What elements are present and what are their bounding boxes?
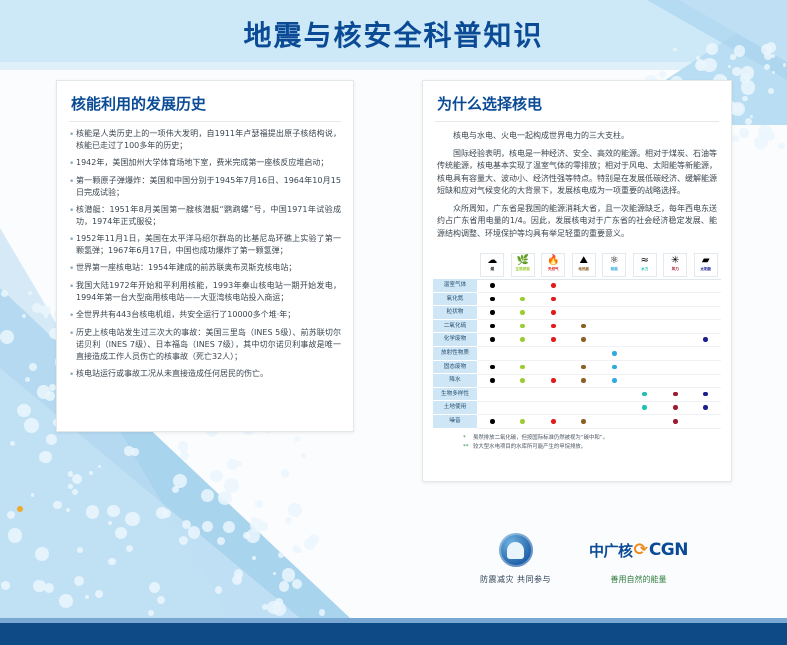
decorative-dot (202, 521, 213, 532)
matrix-impact-dot (551, 297, 556, 302)
decorative-dot (124, 446, 134, 456)
bullet-dot-icon: • (69, 233, 76, 257)
matrix-cell (599, 374, 630, 388)
matrix-column-label: 核能 (611, 267, 618, 271)
matrix-column-label: 水力 (641, 267, 648, 271)
decorative-dot (72, 474, 82, 484)
decorative-dot (702, 58, 716, 72)
decorative-dot (98, 465, 101, 468)
hydro-icon: ≈水力 (633, 253, 657, 277)
matrix-impact-dot (490, 365, 495, 370)
decorative-dot (7, 511, 15, 519)
decorative-dot (319, 609, 326, 616)
matrix-column-label: 生物质能 (516, 267, 530, 271)
matrix-cell (599, 360, 630, 374)
decorative-dot (252, 556, 256, 560)
decorative-dot (149, 582, 160, 593)
decorative-dot (288, 503, 302, 517)
bullet-dot-icon: • (69, 309, 76, 322)
decorative-dot (732, 135, 739, 142)
matrix-impact-dot (703, 337, 708, 342)
decorative-dot (279, 581, 290, 592)
matrix-impact-dot (520, 324, 525, 329)
geothermal-icon: ⛰地热能 (572, 253, 596, 277)
matrix-cell (569, 306, 600, 320)
bullet-dot-icon: • (69, 262, 76, 275)
matrix-cell (630, 306, 661, 320)
decorative-dot (0, 330, 14, 344)
solar-icon-glyph: ▰ (702, 255, 710, 266)
matrix-cell (569, 401, 600, 415)
decorative-dot (45, 391, 55, 401)
matrix-cell (691, 333, 722, 347)
decorative-dot (759, 131, 770, 142)
matrix-cell (508, 319, 539, 333)
footnote-text: 虽然排放二氧化碳，但按国际标准仍然被视为“碳中和”。 (473, 434, 608, 442)
matrix-cell (538, 319, 569, 333)
decorative-dot (148, 610, 154, 616)
matrix-cell (477, 346, 508, 360)
matrix-footnote: *虽然排放二氧化碳，但按国际标准仍然被视为“碳中和”。 (463, 434, 717, 442)
matrix-cell (508, 306, 539, 320)
matrix-cell (599, 346, 630, 360)
decorative-dot (783, 63, 787, 67)
matrix-cell (691, 346, 722, 360)
matrix-cell (660, 306, 691, 320)
matrix-row: 噪音 (433, 415, 721, 429)
decorative-dot (10, 441, 15, 446)
matrix-impact-dot (612, 351, 617, 356)
cgn-caption: 善用自然的能量 (611, 574, 667, 585)
history-bullet: •我国大陆1972年开始和平利用核能，1993年秦山核电站一期开始发电，1994… (69, 280, 341, 304)
matrix-column-header: ☁煤 (477, 253, 508, 277)
matrix-cell (569, 333, 600, 347)
history-bullet-text: 历史上核电站发生过三次大的事故：美国三里岛（INES 5级）、前苏联切尔诺贝利（… (76, 327, 341, 363)
decorative-dot (210, 470, 223, 483)
matrix-row-label: 氧化氮 (433, 293, 477, 307)
matrix-row-label: 化学废物 (433, 333, 477, 347)
decorative-dot (8, 528, 23, 543)
matrix-impact-dot (703, 392, 708, 397)
history-bullet: •核电站运行或事故工况从未直接造成任何居民的伤亡。 (69, 368, 341, 381)
matrix-cell (569, 319, 600, 333)
decorative-dot (232, 575, 242, 585)
decorative-dot (218, 491, 232, 505)
bullet-dot-icon: • (69, 175, 76, 199)
matrix-impact-dot (490, 337, 495, 342)
decorative-dot (255, 500, 263, 508)
right-panel-divider (435, 121, 719, 122)
matrix-impact-dot (673, 405, 678, 410)
matrix-cell (477, 333, 508, 347)
decorative-dot (24, 418, 39, 433)
matrix-cell (508, 346, 539, 360)
decorative-dot (301, 453, 306, 458)
matrix-impact-dot (520, 337, 525, 342)
matrix-column-label: 天然气 (548, 267, 559, 271)
matrix-impact-dot (642, 405, 647, 410)
natural-gas-icon: 🔥天然气 (541, 253, 565, 277)
matrix-row-label: 噪音 (433, 415, 477, 429)
matrix-cell (477, 414, 508, 428)
matrix-cell (660, 333, 691, 347)
matrix-row: 土地使用 (433, 401, 721, 415)
bullet-dot-icon: • (69, 368, 76, 381)
page-title: 地震与核安全科普知识 (0, 14, 787, 54)
decorative-dot (772, 71, 775, 74)
history-bullet: •全世界共有443台核电机组，共安全运行了10000多个堆·年； (69, 309, 341, 322)
history-bullet: •第一颗原子弹爆炸：美国和中国分别于1945年7月16日、1964年10月15日… (69, 175, 341, 199)
why-nuclear-paragraph: 国际经验表明，核电是一种经济、安全、高效的能源。相对于煤炭、石油等传统能源，核电… (437, 148, 717, 198)
history-bullet: •世界第一座核电站：1954年建成的前苏联奥布灵斯克核电站； (69, 262, 341, 275)
matrix-cell (599, 292, 630, 306)
panel-why-nuclear: 为什么选择核电 核电与水电、火电一起构成世界电力的三大支柱。国际经验表明，核电是… (422, 80, 732, 482)
matrix-column-header: ✳风力 (660, 253, 691, 277)
why-nuclear-paragraph: 核电与水电、火电一起构成世界电力的三大支柱。 (437, 130, 717, 143)
decorative-dot (68, 484, 72, 488)
footnote-marker: ** (463, 443, 473, 451)
coal-icon: ☁煤 (480, 253, 504, 277)
solar-icon: ▰太阳能 (694, 253, 718, 277)
decorative-dot (46, 434, 57, 445)
decorative-dot (278, 552, 284, 558)
decorative-dot (25, 377, 30, 382)
decorative-dot (33, 580, 46, 593)
decorative-dot (745, 118, 752, 125)
history-bullet-text: 世界第一座核电站：1954年建成的前苏联奥布灵斯克核电站； (76, 262, 341, 275)
decorative-dot (771, 54, 775, 58)
decorative-dot (294, 436, 300, 442)
matrix-cell (630, 387, 661, 401)
nuclear-icon-glyph: ⚛ (610, 255, 619, 266)
matrix-cell (508, 292, 539, 306)
decorative-dot (224, 478, 239, 493)
decorative-dot (39, 451, 52, 464)
matrix-cell (660, 374, 691, 388)
decorative-dot (659, 71, 666, 78)
matrix-impact-dot (581, 365, 586, 370)
decorative-dot (35, 547, 49, 561)
matrix-impact-dot (673, 419, 678, 424)
matrix-impact-dot (490, 378, 495, 383)
bullet-dot-icon: • (69, 128, 76, 152)
decorative-dot (85, 595, 89, 599)
matrix-impact-dot (551, 324, 556, 329)
biomass-icon: 🌿生物质能 (511, 253, 535, 277)
panel-nuclear-history: 核能利用的发展历史 •核能是人类历史上的一项伟大发明，自1911年卢瑟福提出原子… (56, 80, 354, 432)
matrix-cell (508, 374, 539, 388)
decorative-dot (86, 505, 99, 518)
matrix-impact-dot (673, 392, 678, 397)
decorative-dot (728, 65, 731, 68)
wind-icon-glyph: ✳ (671, 255, 679, 266)
decorative-dot (115, 527, 127, 539)
matrix-cell (538, 374, 569, 388)
matrix-impact-dot (490, 297, 495, 302)
matrix-cell (630, 374, 661, 388)
matrix-impact-dot (551, 310, 556, 315)
nuclear-icon: ⚛核能 (602, 253, 626, 277)
left-panel-title: 核能利用的发展历史 (57, 81, 353, 121)
matrix-cell (538, 360, 569, 374)
decorative-dot (107, 505, 120, 518)
matrix-cell (477, 292, 508, 306)
matrix-column-label: 风力 (672, 267, 679, 271)
history-bullet-text: 核潜艇：1951年8月美国第一艘核潜艇“鹦鹉螺”号，中国1971年试验成功，19… (76, 204, 341, 228)
matrix-cell (630, 401, 661, 415)
matrix-cell (538, 279, 569, 293)
decorative-dot (778, 143, 785, 150)
matrix-row-label: 粒状物 (433, 306, 477, 320)
matrix-cell (569, 374, 600, 388)
wind-icon: ✳风力 (663, 253, 687, 277)
matrix-cell (630, 319, 661, 333)
history-bullet-text: 我国大陆1972年开始和平利用核能，1993年秦山核电站一期开始发电，1994年… (76, 280, 341, 304)
decorative-dot (22, 314, 26, 318)
decorative-dot (77, 547, 82, 552)
matrix-cell (477, 360, 508, 374)
decorative-dot (223, 521, 235, 533)
matrix-cell (477, 374, 508, 388)
matrix-cell (569, 387, 600, 401)
matrix-cell (569, 279, 600, 293)
decorative-dot (66, 508, 71, 513)
matrix-impact-dot (642, 392, 647, 397)
matrix-cell (508, 333, 539, 347)
decorative-dot (742, 96, 748, 102)
matrix-cell (660, 414, 691, 428)
matrix-cell (599, 414, 630, 428)
matrix-cell (569, 346, 600, 360)
decorative-dot (260, 522, 269, 531)
decorative-dot (273, 572, 276, 575)
matrix-cell (538, 346, 569, 360)
matrix-corner-cell (433, 260, 477, 273)
matrix-cell (630, 346, 661, 360)
matrix-cell (691, 414, 722, 428)
history-bullet-text: 1942年，美国加州大学体育场地下室，费米完成第一座核反应堆启动； (76, 157, 341, 170)
matrix-row: 温室气体 (433, 279, 721, 293)
coal-icon-glyph: ☁ (487, 255, 497, 266)
natural-gas-icon-glyph: 🔥 (547, 255, 559, 266)
decorative-dot (215, 586, 222, 593)
decorative-dot (53, 501, 61, 509)
matrix-cell (538, 292, 569, 306)
decorative-dot (281, 469, 289, 477)
matrix-row: 放射性物质 (433, 347, 721, 361)
left-panel-divider (69, 121, 341, 122)
matrix-footnote: **较大型水电项目的水库所可能产生的甲烷排放。 (463, 443, 717, 451)
matrix-row-label: 放射性物质 (433, 347, 477, 361)
matrix-cell (508, 401, 539, 415)
bullet-dot-icon: • (69, 280, 76, 304)
matrix-row-label: 温室气体 (433, 279, 477, 293)
decorative-dot (179, 536, 188, 545)
matrix-impact-dot (490, 324, 495, 329)
decorative-dot (293, 545, 301, 553)
matrix-cell (477, 387, 508, 401)
matrix-column-header: 🌿生物质能 (508, 253, 539, 277)
matrix-column-label: 地热能 (578, 267, 589, 271)
matrix-footnotes: *虽然排放二氧化碳，但按国际标准仍然被视为“碳中和”。**较大型水电项目的水库所… (423, 429, 731, 457)
matrix-cell (538, 333, 569, 347)
decorative-dot (125, 512, 139, 526)
history-bullet-text: 全世界共有443台核电机组，共安全运行了10000多个堆·年； (76, 309, 341, 322)
matrix-cell (691, 374, 722, 388)
history-bullet-text: 第一颗原子弹爆炸：美国和中国分别于1945年7月16日、1964年10月15日完… (76, 175, 341, 199)
matrix-cell (630, 292, 661, 306)
matrix-row: 二氧化硫 (433, 320, 721, 334)
decorative-dot (1, 290, 8, 297)
why-nuclear-paragraph: 众所周知，广东省是我国的能源消耗大省，且一次能源缺乏，每年西电东送约占广东省用电… (437, 203, 717, 241)
matrix-impact-dot (520, 419, 525, 424)
decorative-dot (750, 115, 754, 119)
decorative-dot (188, 526, 201, 539)
matrix-cell (599, 306, 630, 320)
matrix-cell (569, 360, 600, 374)
matrix-impact-dot (551, 337, 556, 342)
matrix-cell (630, 360, 661, 374)
matrix-row-label: 固态废物 (433, 361, 477, 375)
matrix-row: 固态废物 (433, 361, 721, 375)
matrix-row: 氧化氮 (433, 293, 721, 307)
history-bullet: •1952年11月1日，美国在太平洋马绍尔群岛的比基尼岛环礁上实验了第一颗氢弹；… (69, 233, 341, 257)
history-bullet-text: 核电站运行或事故工况从未直接造成任何居民的伤亡。 (76, 368, 341, 381)
bullet-dot-icon: • (69, 157, 76, 170)
matrix-cell (660, 319, 691, 333)
matrix-cell (599, 401, 630, 415)
matrix-column-label: 太阳能 (700, 267, 711, 271)
matrix-cell (630, 414, 661, 428)
decorative-dot (157, 596, 165, 604)
disaster-prevention-logo: 防震减灾 共同参与 (480, 533, 551, 585)
matrix-cell (508, 279, 539, 293)
matrix-impact-dot (490, 310, 495, 315)
matrix-cell (630, 279, 661, 293)
decorative-dot (59, 594, 73, 608)
matrix-cell (691, 360, 722, 374)
cgn-chinese-name: 中广核 (589, 540, 633, 561)
bullet-dot-icon: • (69, 204, 76, 228)
decorative-dot (126, 545, 133, 552)
matrix-column-header: ≈水力 (630, 253, 661, 277)
matrix-cell (508, 387, 539, 401)
matrix-row: 生物多样性 (433, 388, 721, 402)
matrix-impact-dot (581, 378, 586, 383)
decorative-dot (292, 579, 302, 589)
matrix-cell (538, 306, 569, 320)
matrix-cell (691, 401, 722, 415)
matrix-impact-dot (551, 419, 556, 424)
decorative-dot (28, 291, 32, 295)
matrix-column-label: 煤 (490, 267, 494, 271)
decorative-dot (201, 489, 214, 502)
matrix-impact-dot (581, 419, 586, 424)
footer-bar (0, 623, 787, 645)
history-bullet: •1942年，美国加州大学体育场地下室，费米完成第一座核反应堆启动； (69, 157, 341, 170)
decorative-dot (108, 558, 115, 565)
matrix-cell (630, 333, 661, 347)
matrix-row: 粒状物 (433, 306, 721, 320)
matrix-column-header: 🔥天然气 (538, 253, 569, 277)
seal-inner-shape (507, 542, 524, 559)
matrix-cell (538, 401, 569, 415)
why-nuclear-paragraphs: 核电与水电、火电一起构成世界电力的三大支柱。国际经验表明，核电是一种经济、安全、… (423, 128, 731, 251)
decorative-dot (95, 590, 103, 598)
decorative-dot (740, 73, 750, 83)
footnote-marker: * (463, 434, 473, 442)
decorative-dot (730, 54, 735, 59)
matrix-cell (538, 414, 569, 428)
history-bullet-text: 核能是人类历史上的一项伟大发明，自1911年卢瑟福提出原子核结构说，核能已走过了… (76, 128, 341, 152)
decorative-dot (227, 459, 238, 470)
decorative-dot (217, 537, 225, 545)
cgn-english-name: CGN (649, 540, 688, 560)
history-bullet-list: •核能是人类历史上的一项伟大发明，自1911年卢瑟福提出原子核结构说，核能已走过… (57, 128, 353, 394)
matrix-cell (538, 387, 569, 401)
matrix-cell (477, 279, 508, 293)
matrix-cell (508, 414, 539, 428)
decorative-dot (89, 471, 93, 475)
matrix-cell (691, 306, 722, 320)
matrix-row-label: 降水 (433, 374, 477, 388)
matrix-impact-dot (490, 419, 495, 424)
matrix-cell (691, 292, 722, 306)
matrix-header-row: ☁煤🌿生物质能🔥天然气⛰地热能⚛核能≈水力✳风力▰太阳能 (433, 253, 721, 279)
decorative-dot (108, 521, 113, 526)
matrix-row: 降水 (433, 374, 721, 388)
decorative-dot (72, 489, 78, 495)
matrix-cell (508, 360, 539, 374)
matrix-column-header: ⛰地热能 (569, 253, 600, 277)
matrix-impact-dot (612, 378, 617, 383)
matrix-impact-dot (551, 378, 556, 383)
matrix-cell (599, 319, 630, 333)
matrix-column-header: ▰太阳能 (691, 253, 722, 277)
decorative-dot (282, 568, 296, 582)
geothermal-icon-glyph: ⛰ (580, 255, 588, 266)
decorative-dot (1, 581, 10, 590)
matrix-cell (569, 292, 600, 306)
cgn-swirl-icon: ⟳ (634, 540, 648, 560)
seal-caption: 防震减灾 共同参与 (480, 574, 551, 585)
decorative-dot (285, 517, 292, 524)
decorative-dot (309, 534, 319, 544)
matrix-row: 化学废物 (433, 333, 721, 347)
right-panel-title: 为什么选择核电 (423, 81, 731, 121)
decorative-dot (768, 88, 774, 94)
matrix-cell (477, 401, 508, 415)
matrix-impact-dot (581, 337, 586, 342)
decorative-dot (31, 493, 35, 497)
footnote-text: 较大型水电项目的水库所可能产生的甲烷排放。 (473, 443, 586, 451)
matrix-impact-dot (520, 365, 525, 370)
seal-icon (499, 533, 533, 567)
matrix-cell (691, 387, 722, 401)
matrix-cell (691, 319, 722, 333)
matrix-cell (477, 306, 508, 320)
matrix-impact-dot (581, 324, 586, 329)
decorative-dot (764, 64, 770, 70)
decorative-dot (74, 576, 84, 586)
matrix-cell (660, 360, 691, 374)
history-bullet: •核能是人类历史上的一项伟大发明，自1911年卢瑟福提出原子核结构说，核能已走过… (69, 128, 341, 152)
cgn-logo: 中广核 ⟳ CGN 善用自然的能量 (589, 533, 688, 585)
decorative-dot (17, 506, 23, 512)
bullet-dot-icon: • (69, 327, 76, 363)
matrix-cell (660, 346, 691, 360)
biomass-icon-glyph: 🌿 (517, 255, 529, 266)
